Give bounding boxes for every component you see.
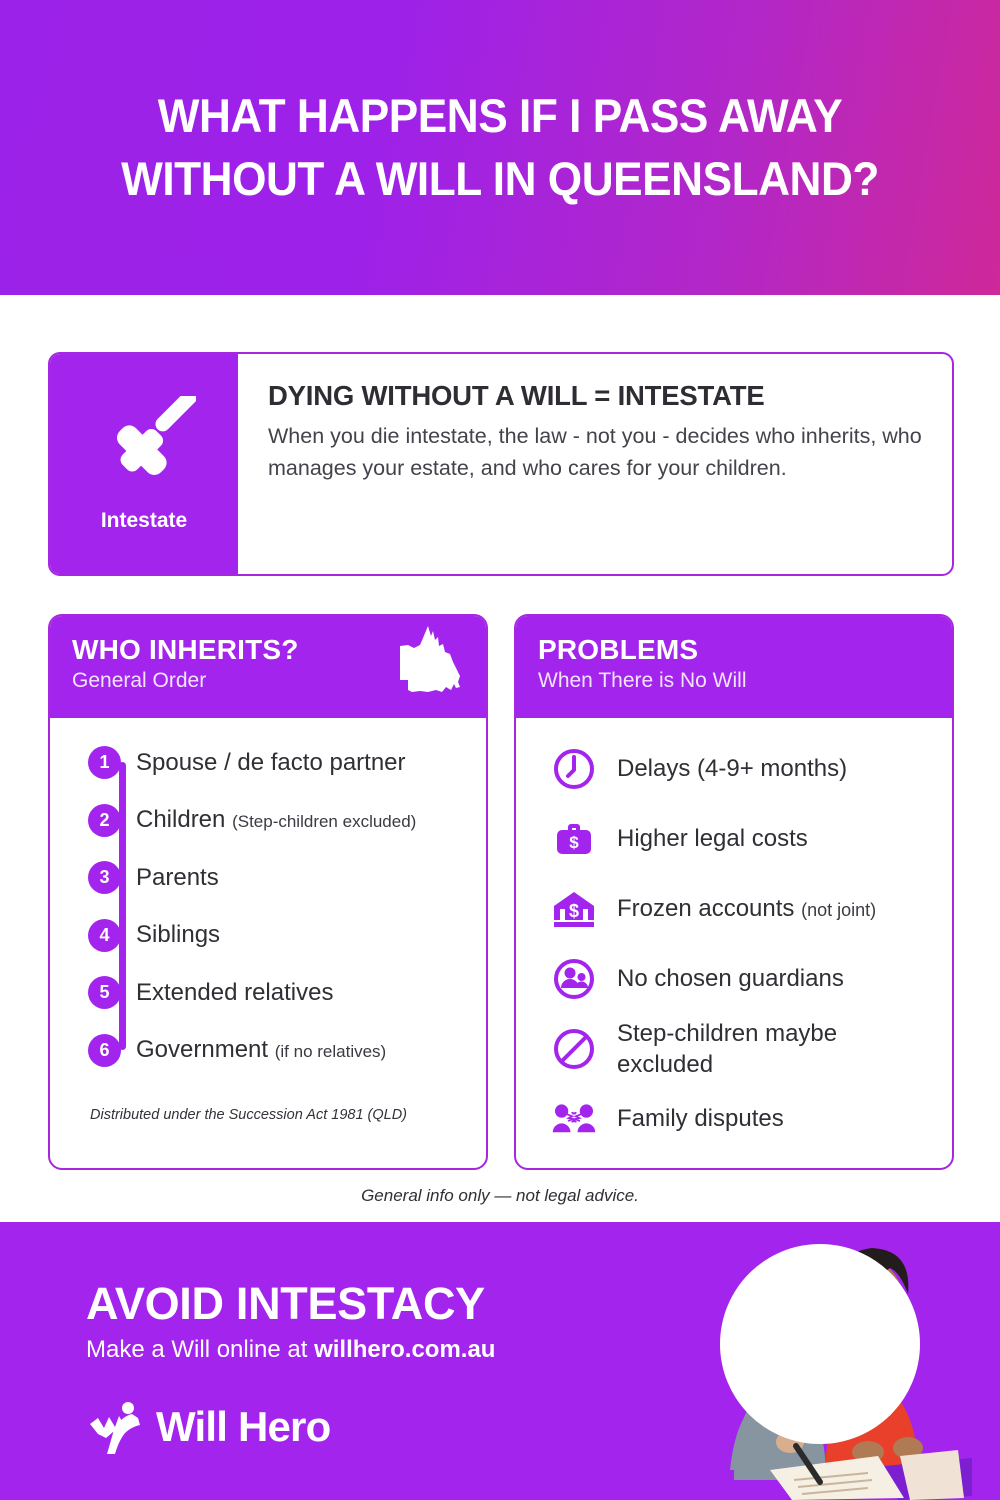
briefcase-dollar-icon: $ <box>551 816 597 862</box>
family-dispute-icon <box>551 1096 597 1142</box>
list-item-label: Government (if no relatives) <box>136 1036 386 1064</box>
list-item-label: Extended relatives <box>136 979 333 1007</box>
list-item-label: No chosen guardians <box>617 964 844 995</box>
footer-cta-banner: AVOID INTESTACY Make a Will online at wi… <box>0 1222 1000 1500</box>
who-inherits-panel: WHO INHERITS? General Order 1 Spouse / d… <box>48 614 488 1170</box>
legal-disclaimer: General info only — not legal advice. <box>0 1186 1000 1206</box>
people-circle-icon <box>551 956 597 1002</box>
rank-badge: 4 <box>88 919 121 952</box>
who-inherits-body: 1 Spouse / de facto partner 2 Children (… <box>50 718 486 1168</box>
list-item-text: Children <box>136 806 225 833</box>
problems-body: Delays (4-9+ months) $ Higher legal cost… <box>516 718 952 1168</box>
willhero-hero-icon <box>88 1398 150 1456</box>
svg-text:$: $ <box>569 833 579 852</box>
footer-cta-prefix: Make a Will online at <box>86 1336 314 1363</box>
svg-text:$: $ <box>569 901 579 921</box>
problems-subtitle: When There is No Will <box>538 669 930 693</box>
footer-title: AVOID INTESTACY <box>86 1278 495 1330</box>
problems-panel: PROBLEMS When There is No Will Delays (4… <box>514 614 954 1170</box>
problems-title: PROBLEMS <box>538 634 930 666</box>
rank-badge: 1 <box>88 746 121 779</box>
brand-name: Will Hero <box>156 1403 330 1451</box>
clock-icon <box>551 746 597 792</box>
intestate-body-text: When you die intestate, the law - not yo… <box>268 421 922 485</box>
problems-header: PROBLEMS When There is No Will <box>516 616 952 718</box>
list-item-label: Spouse / de facto partner <box>136 749 406 777</box>
photo-circle-backdrop <box>720 1244 920 1444</box>
list-item-label: Siblings <box>136 921 220 949</box>
succession-act-footnote: Distributed under the Succession Act 198… <box>90 1107 468 1123</box>
prohibition-icon <box>551 1026 597 1072</box>
list-item-note: (if no relatives) <box>275 1042 386 1061</box>
list-item-label: Delays (4-9+ months) <box>617 754 847 785</box>
list-item: 1 Spouse / de facto partner <box>68 734 468 792</box>
list-item-text: Frozen accounts <box>617 895 794 922</box>
page-title-line-1: WHAT HAPPENS IF I PASS AWAY <box>68 85 933 147</box>
willhero-logo: Will Hero <box>88 1398 330 1456</box>
list-item-text: Family disputes <box>617 1105 784 1132</box>
list-item-label: Parents <box>136 864 219 892</box>
list-item-label: Step-children maybe excluded <box>617 1018 887 1080</box>
list-item: No chosen guardians <box>534 944 934 1014</box>
rank-badge: 6 <box>88 1034 121 1067</box>
footer-cta-domain[interactable]: willhero.com.au <box>314 1336 495 1363</box>
list-item: $ Frozen accounts (not joint) <box>534 874 934 944</box>
list-item: 5 Extended relatives <box>68 964 468 1022</box>
rank-badge: 2 <box>88 804 121 837</box>
list-item-text: Extended relatives <box>136 979 333 1006</box>
footer-cta-line: Make a Will online at willhero.com.au <box>86 1336 495 1364</box>
list-item-text: Government <box>136 1036 268 1063</box>
list-item-note: (not joint) <box>801 900 876 920</box>
page-header: WHAT HAPPENS IF I PASS AWAY WITHOUT A WI… <box>0 0 1000 295</box>
list-item: $ Higher legal costs <box>534 804 934 874</box>
intestate-definition-card: Intestate DYING WITHOUT A WILL = INTESTA… <box>48 352 954 576</box>
rank-badge: 5 <box>88 976 121 1009</box>
intestate-content: DYING WITHOUT A WILL = INTESTATE When yo… <box>238 354 952 574</box>
list-item-label: Family disputes <box>617 1104 784 1135</box>
panels-row: WHO INHERITS? General Order 1 Spouse / d… <box>48 614 954 1170</box>
list-item: 4 Siblings <box>68 907 468 965</box>
inherit-order-list: 1 Spouse / de facto partner 2 Children (… <box>68 734 468 1079</box>
intestate-badge-label: Intestate <box>101 509 187 533</box>
who-inherits-header: WHO INHERITS? General Order <box>50 616 486 718</box>
list-item: 6 Government (if no relatives) <box>68 1022 468 1080</box>
list-item-label: Children (Step-children excluded) <box>136 806 416 834</box>
list-item-text: Spouse / de facto partner <box>136 749 406 776</box>
intestate-heading: DYING WITHOUT A WILL = INTESTATE <box>268 380 922 412</box>
queensland-map-icon <box>398 624 462 702</box>
list-item-note: (Step-children excluded) <box>232 812 416 831</box>
list-item-text: Higher legal costs <box>617 825 808 852</box>
gavel-icon <box>92 389 196 507</box>
list-item-text: Siblings <box>136 921 220 948</box>
intestate-badge: Intestate <box>50 354 238 574</box>
list-item: 3 Parents <box>68 849 468 907</box>
list-item: 2 Children (Step-children excluded) <box>68 792 468 850</box>
footer-text-block: AVOID INTESTACY Make a Will online at wi… <box>86 1278 495 1364</box>
list-item-label: Higher legal costs <box>617 824 808 855</box>
bank-dollar-icon: $ <box>551 886 597 932</box>
list-item-label: Frozen accounts (not joint) <box>617 894 876 925</box>
list-item-text: No chosen guardians <box>617 965 844 992</box>
list-item-text: Parents <box>136 864 219 891</box>
list-item-text: Delays (4-9+ months) <box>617 755 847 782</box>
list-item: Delays (4-9+ months) <box>534 734 934 804</box>
page-title: WHAT HAPPENS IF I PASS AWAY WITHOUT A WI… <box>68 85 933 209</box>
list-item: Step-children maybe excluded <box>534 1014 934 1084</box>
list-item: Family disputes <box>534 1084 934 1154</box>
rank-badge: 3 <box>88 861 121 894</box>
list-item-text: Step-children maybe excluded <box>617 1020 837 1078</box>
couple-signing-will-photo <box>672 1230 972 1500</box>
page-title-line-2: WITHOUT A WILL IN QUEENSLAND? <box>68 148 933 210</box>
